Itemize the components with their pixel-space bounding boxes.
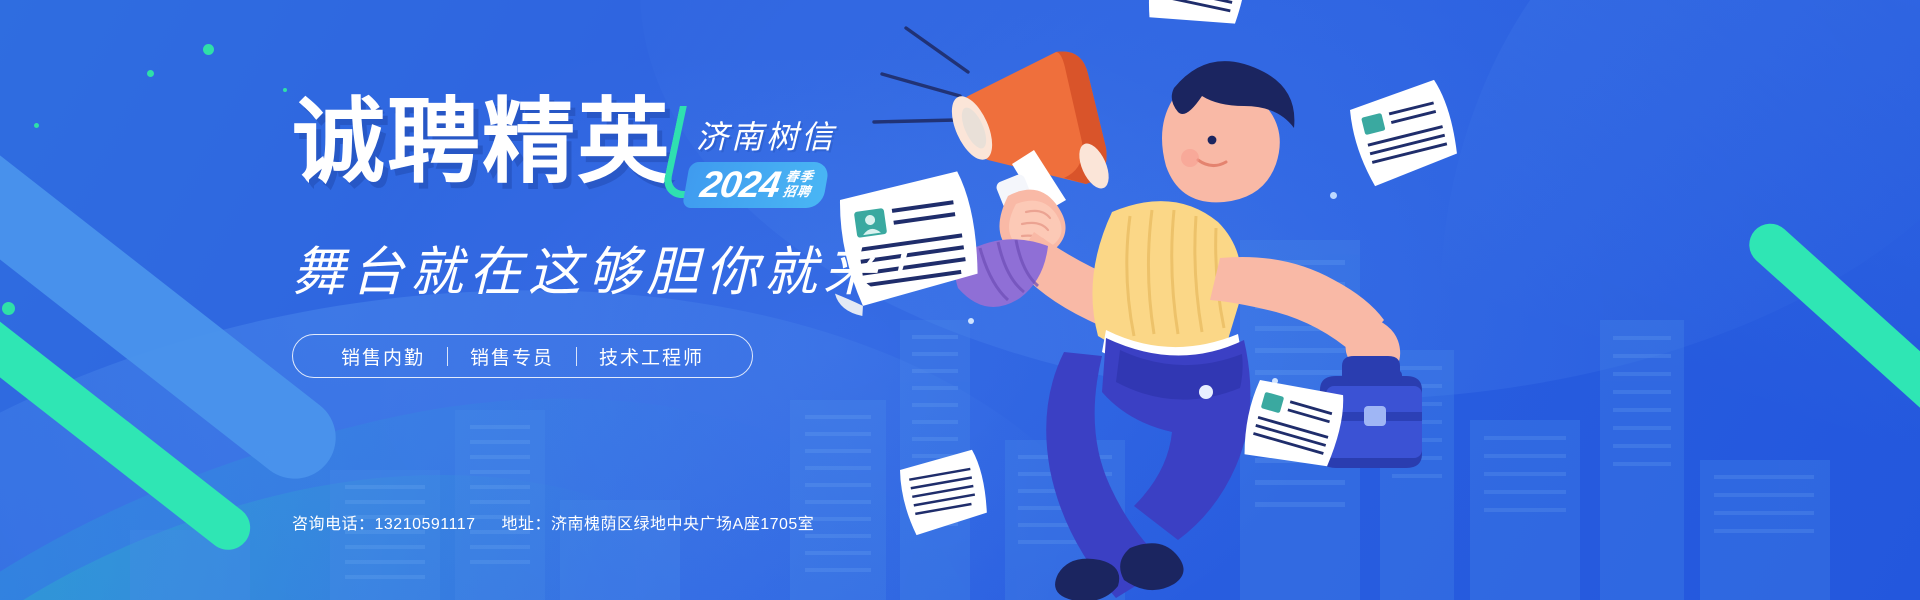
- badge-season-line2: 招聘: [782, 185, 813, 200]
- job-tag-engineer[interactable]: 技术工程师: [577, 343, 726, 370]
- contact-info: 咨询电话：13210591117 地址：济南槐荫区绿地中央广场A座1705室: [292, 510, 814, 534]
- badge-season-line1: 春季: [784, 170, 815, 185]
- headline-row: 诚聘精英 济南树信 2024 春季 招聘: [292, 96, 1112, 208]
- resume-paper-icon: [897, 449, 990, 536]
- resume-paper-icon: [1346, 78, 1462, 188]
- decor-dot: [2, 302, 15, 315]
- resume-paper-icon: [1142, 0, 1253, 35]
- badge-year: 2024: [698, 166, 783, 203]
- contact-address: 地址：济南槐荫区绿地中央广场A座1705室: [502, 510, 815, 534]
- job-tag-sales-assistant[interactable]: 销售内勤: [319, 343, 447, 370]
- season-badge: 2024 春季 招聘: [682, 162, 830, 208]
- company-badge-group: 济南树信 2024 春季 招聘: [686, 112, 836, 208]
- headline-block: 诚聘精英 济南树信 2024 春季 招聘 舞台就在这够胆你就来！ 销售内勤 销售…: [292, 96, 1112, 378]
- job-tags-pill: 销售内勤 销售专员 技术工程师: [292, 334, 753, 378]
- decor-dot: [147, 70, 154, 77]
- decor-dot: [283, 88, 287, 92]
- head: [1162, 61, 1294, 202]
- page-title: 诚聘精英: [292, 96, 672, 189]
- decor-dot: [34, 123, 39, 128]
- contact-phone: 咨询电话：13210591117: [292, 510, 476, 534]
- subtitle: 舞台就在这够胆你就来！: [292, 230, 1112, 306]
- decor-dot: [203, 44, 214, 55]
- badge-season-stack: 春季 招聘: [782, 170, 815, 199]
- job-tag-sales-specialist[interactable]: 销售专员: [448, 343, 576, 370]
- recruitment-banner: 诚聘精英 济南树信 2024 春季 招聘 舞台就在这够胆你就来！ 销售内勤 销售…: [0, 0, 1920, 600]
